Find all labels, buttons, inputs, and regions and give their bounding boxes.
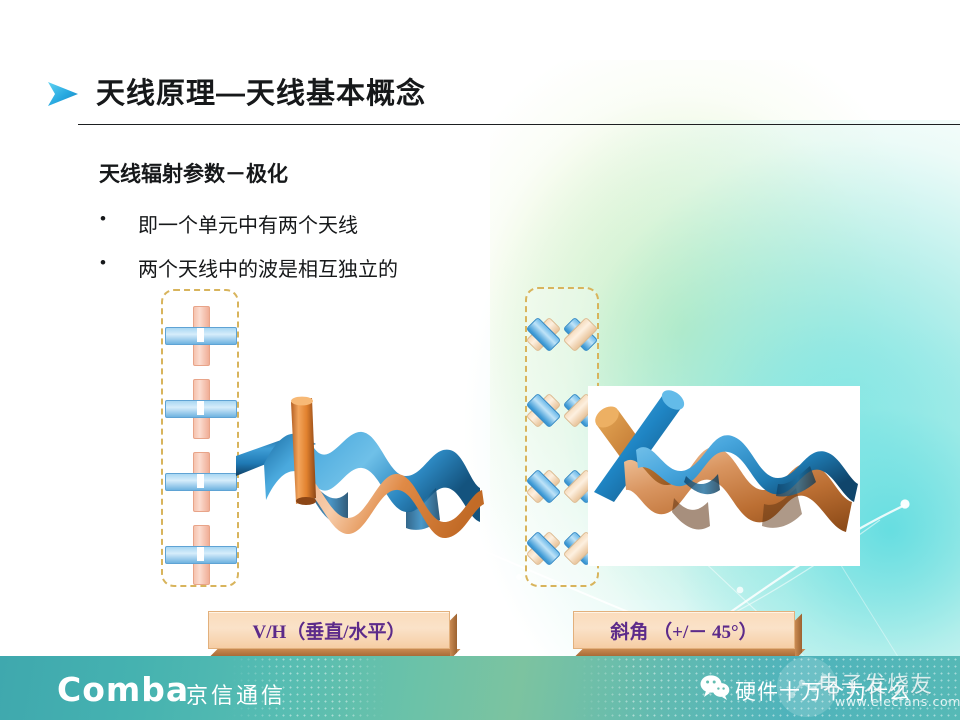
- vertical-horizontal-dipole-array: [161, 289, 239, 587]
- wechat-icon: [700, 674, 730, 700]
- cross-dipole-element: [528, 454, 594, 518]
- brand-logo-chinese: 京信通信: [186, 678, 286, 710]
- vh-polarization-wave-illustration: [236, 372, 488, 548]
- bullet-item-2-label: 两个天线中的波是相互独立的: [138, 259, 398, 281]
- footer-bar: Comba 京信通信 硬件十万个为什么: [0, 656, 960, 720]
- triangle-arrow-icon: [46, 80, 80, 108]
- slant-arm-blue: [526, 317, 561, 352]
- caption-plate-slant: 斜角 （+/－ 45°）: [573, 611, 795, 649]
- dipole-element: [163, 525, 237, 583]
- bullet-marker: •: [100, 253, 138, 273]
- brand-logo-latin: Comba: [57, 670, 189, 709]
- caption-plate-vh: V/H（垂直/水平）: [208, 611, 450, 649]
- dipole-feed-gap: [197, 401, 204, 415]
- plate-shadow-right: [795, 614, 802, 660]
- dipole-element: [163, 379, 237, 437]
- dipole-element: [163, 452, 237, 510]
- page-title: 天线原理—天线基本概念: [96, 70, 426, 112]
- caption-plate-vh-label: V/H（垂直/水平）: [208, 611, 450, 649]
- slide-canvas: 天线原理—天线基本概念 天线辐射参数－极化 •即一个单元中有两个天线 •两个天线…: [0, 0, 960, 720]
- bullet-item-1-label: 即一个单元中有两个天线: [138, 215, 358, 237]
- cross-dipole-element: [528, 302, 594, 366]
- wechat-account-label: 硬件十万个为什么: [735, 676, 911, 706]
- dipole-feed-gap: [197, 547, 204, 561]
- cross-dipole-element: [528, 378, 594, 442]
- caption-plate-slant-label: 斜角 （+/－ 45°）: [573, 611, 795, 649]
- header-divider: [78, 124, 960, 125]
- plate-shadow-bottom: [576, 649, 806, 656]
- cross-dipole-element: [528, 516, 594, 580]
- bullet-marker: •: [100, 209, 138, 229]
- dipole-element: [163, 306, 237, 364]
- slant-arm-blue: [526, 469, 561, 504]
- bullet-item-2: •两个天线中的波是相互独立的: [100, 253, 398, 282]
- plate-shadow-right: [450, 614, 457, 660]
- bullet-item-1: •即一个单元中有两个天线: [100, 209, 358, 238]
- dipole-feed-gap: [197, 474, 204, 488]
- slant-arm-blue: [526, 531, 561, 566]
- dipole-feed-gap: [197, 328, 204, 342]
- slant-arm-blue: [526, 393, 561, 428]
- section-subtitle: 天线辐射参数－极化: [99, 158, 288, 188]
- plate-shadow-bottom: [211, 649, 461, 656]
- slant-polarization-wave-illustration: [588, 386, 860, 566]
